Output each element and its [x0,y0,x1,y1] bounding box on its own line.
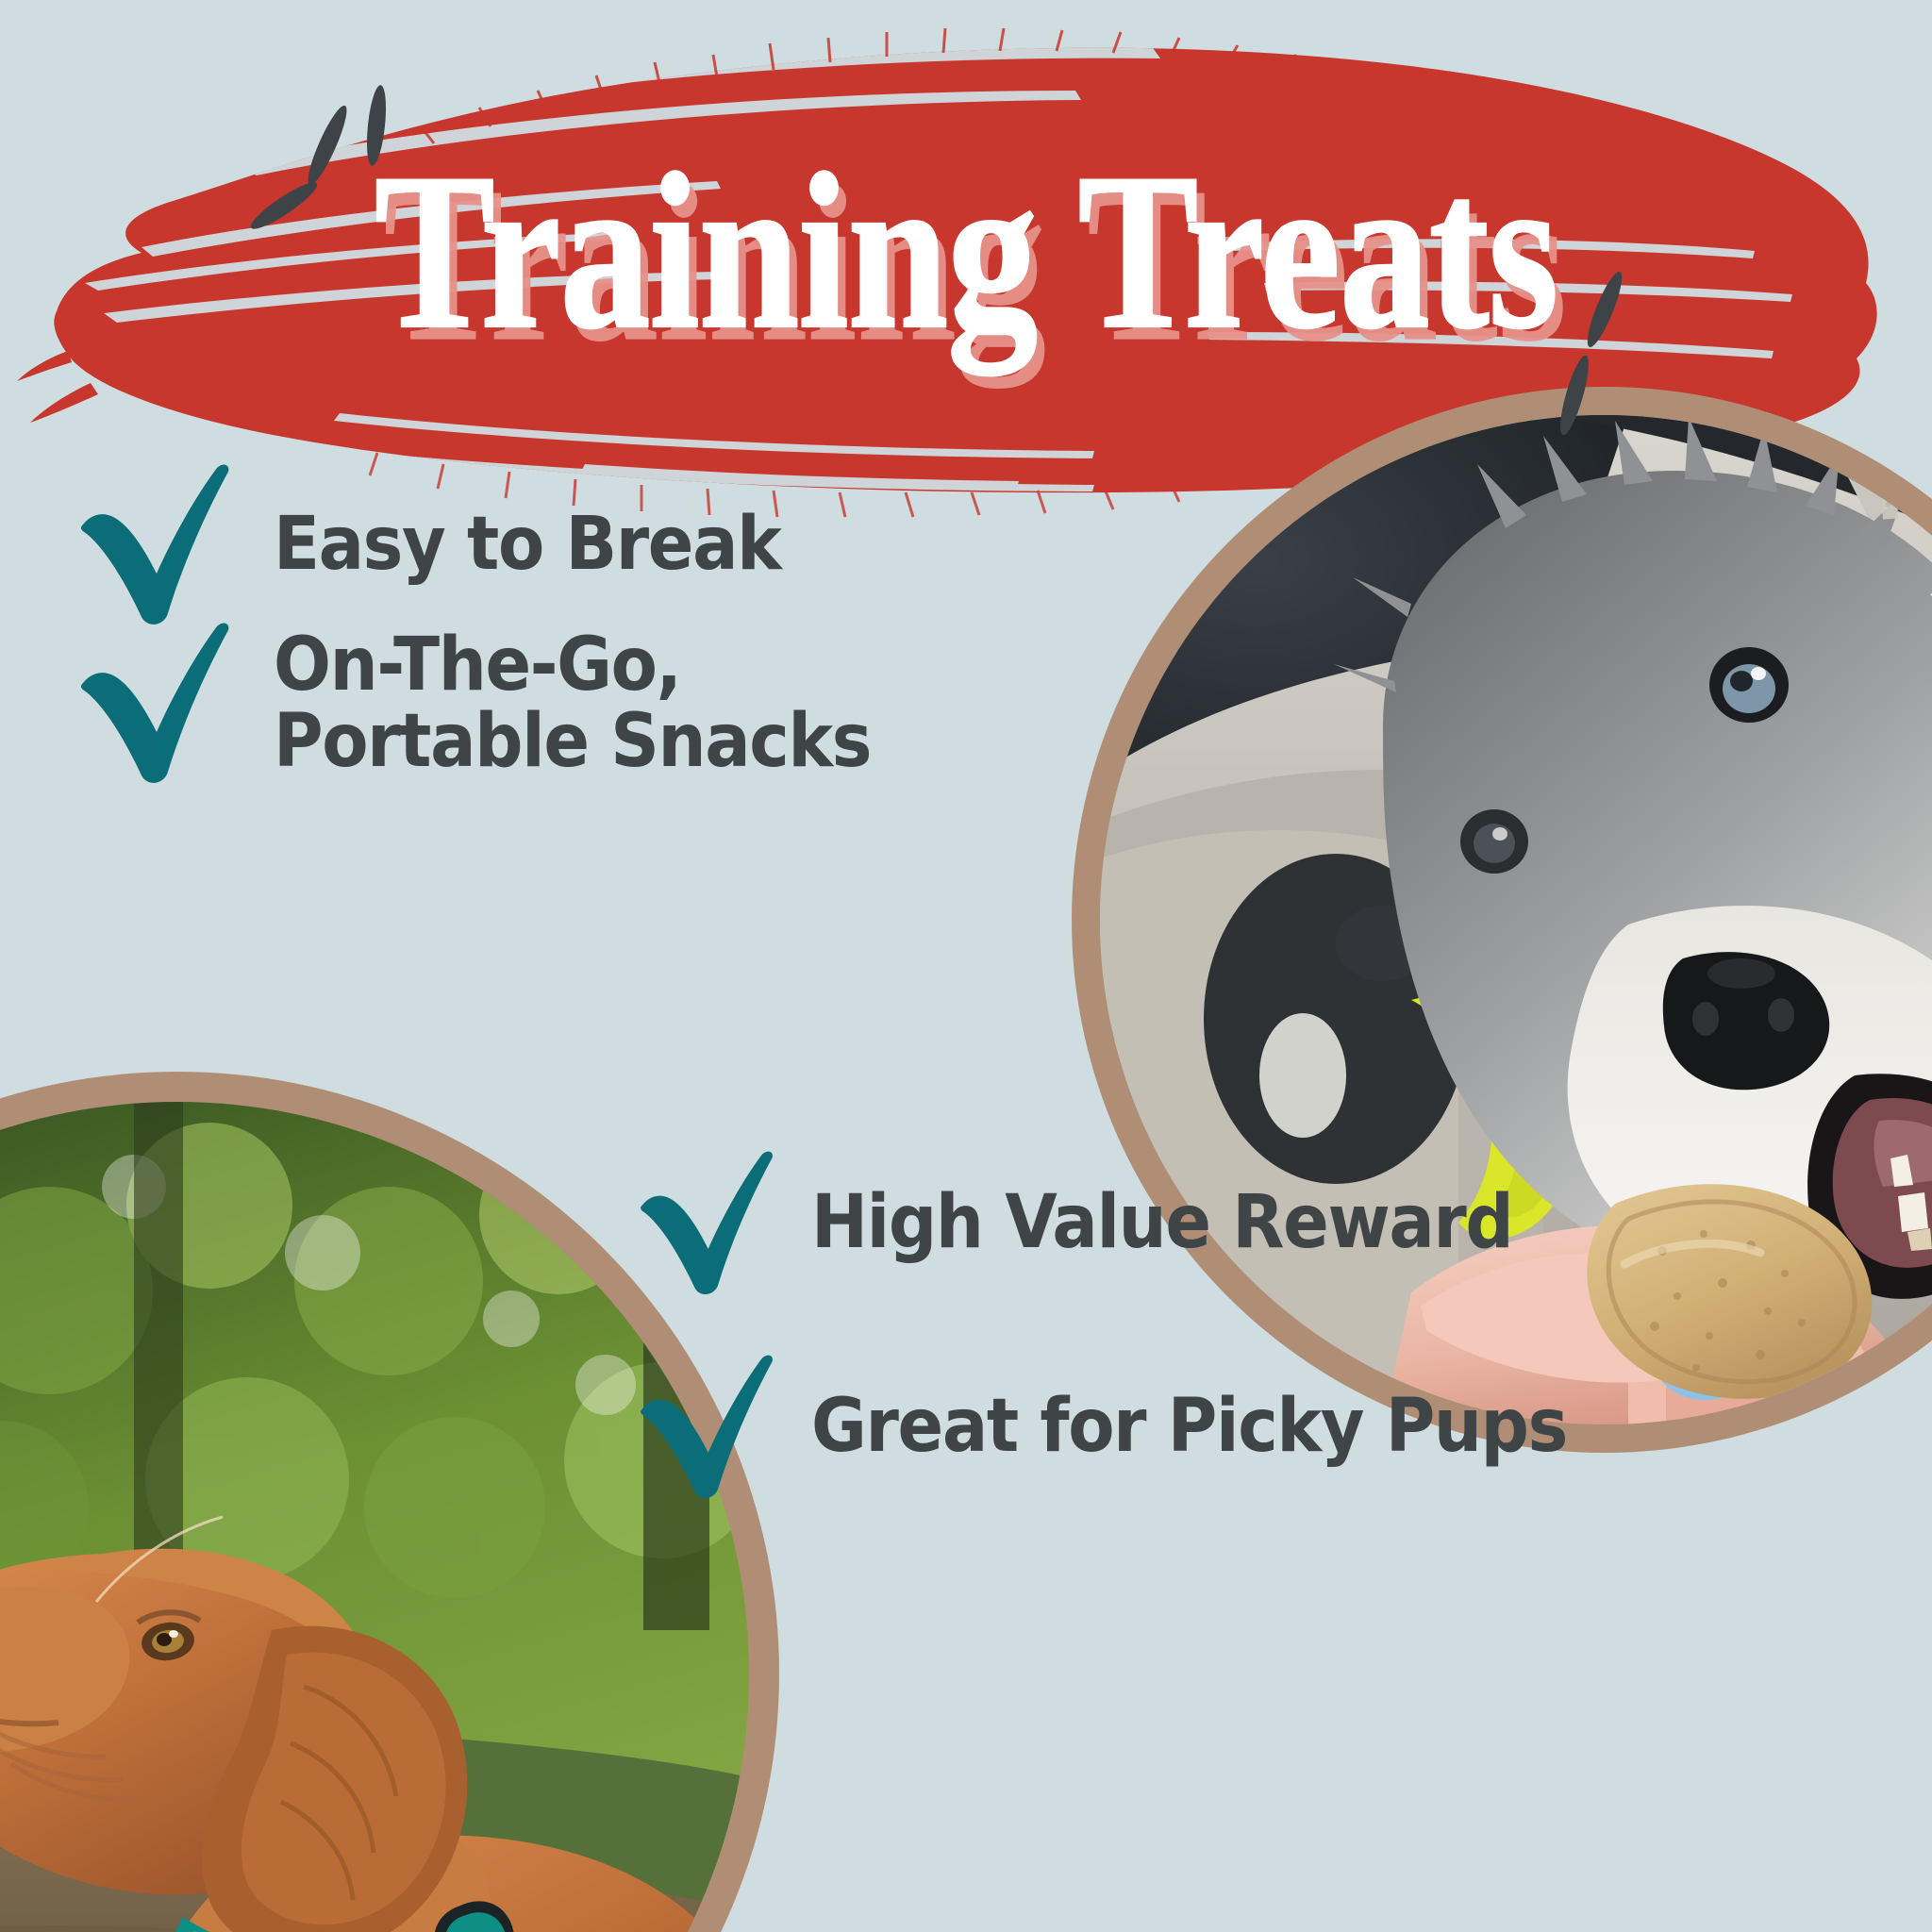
page-title: Training Treats [0,140,1932,363]
benefit-on-the-go: On-The-Go, Portable Snacks [74,619,923,789]
check-icon [634,1349,777,1506]
benefit-label: Great for Picky Pups [811,1389,1567,1465]
check-icon [634,1145,777,1302]
check-icon [74,460,234,630]
benefit-easy-to-break: Easy to Break [74,460,824,630]
marketing-graphic: Training Treats [0,0,1932,1932]
benefit-label: High Value Reward [811,1185,1512,1261]
benefit-great-for-picky-pups: Great for Picky Pups [634,1349,1633,1506]
benefit-label: On-The-Go, Portable Snacks [274,627,871,780]
benefit-high-value-reward: High Value Reward [634,1145,1574,1302]
check-icon [74,619,234,789]
benefit-label: Easy to Break [274,507,780,583]
